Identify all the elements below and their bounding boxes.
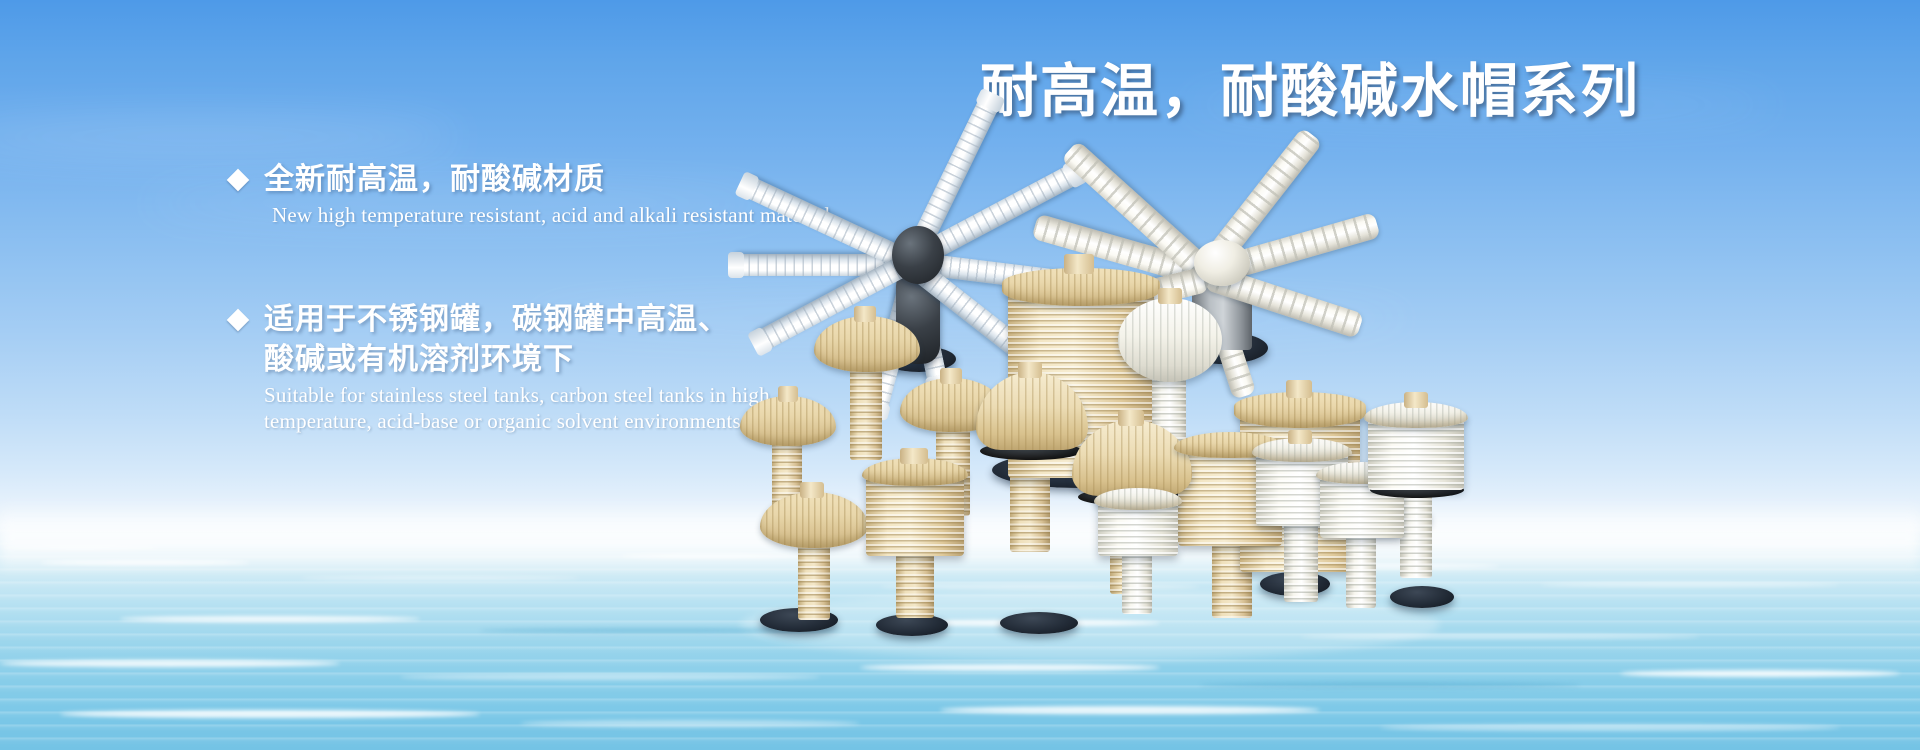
feature-title-en: New high temperature resistant, acid and… <box>272 202 830 228</box>
feature-list: 全新耐高温，耐酸碱材质 New high temperature resista… <box>0 0 900 750</box>
nozzle-cap <box>1094 488 1182 510</box>
feature-item: 适用于不锈钢罐，碳钢罐中高温、 酸碱或有机溶剂环境下 Suitable for … <box>230 300 770 435</box>
nozzle-nub <box>1404 392 1428 408</box>
nozzle-nub <box>778 386 798 402</box>
nozzle-nub <box>800 482 824 498</box>
diamond-marker-icon <box>227 309 250 332</box>
nozzle-nub <box>1286 380 1312 398</box>
feature-title-cn: 适用于不锈钢罐，碳钢罐中高温、 酸碱或有机溶剂环境下 <box>264 300 729 379</box>
base-flange <box>1390 586 1454 608</box>
nozzle-stem <box>896 548 934 618</box>
nozzle-nub <box>854 306 876 322</box>
nozzle-stem <box>1284 518 1318 602</box>
starburst-hub-icon <box>892 226 944 284</box>
nozzle-nub <box>940 368 962 384</box>
nozzle-stem <box>1122 548 1152 614</box>
promo-banner: 耐高温，耐酸碱水帽系列 全新耐高温，耐酸碱材质 New high tempera… <box>0 0 1920 750</box>
starburst-hub-icon <box>1194 240 1250 286</box>
nozzle-stem <box>798 540 830 620</box>
nozzle-nub <box>1018 362 1042 378</box>
base-flange <box>1000 612 1078 634</box>
nozzle-nub <box>1064 254 1094 274</box>
nozzle-nub <box>1288 430 1312 444</box>
nozzle-stem <box>850 364 882 460</box>
page-title: 耐高温，耐酸碱水帽系列 <box>980 60 1880 124</box>
feature-title-en: Suitable for stainless steel tanks, carb… <box>264 382 770 435</box>
feature-title-cn: 全新耐高温，耐酸碱材质 <box>264 160 605 200</box>
nozzle-stem <box>1400 492 1432 578</box>
nozzle-nub <box>900 448 928 464</box>
nozzle-dome <box>1118 298 1222 382</box>
nozzle-nub <box>1158 288 1182 304</box>
nozzle-stem <box>1346 530 1376 608</box>
nozzle-nub <box>1118 410 1144 426</box>
diamond-marker-icon <box>227 169 250 192</box>
